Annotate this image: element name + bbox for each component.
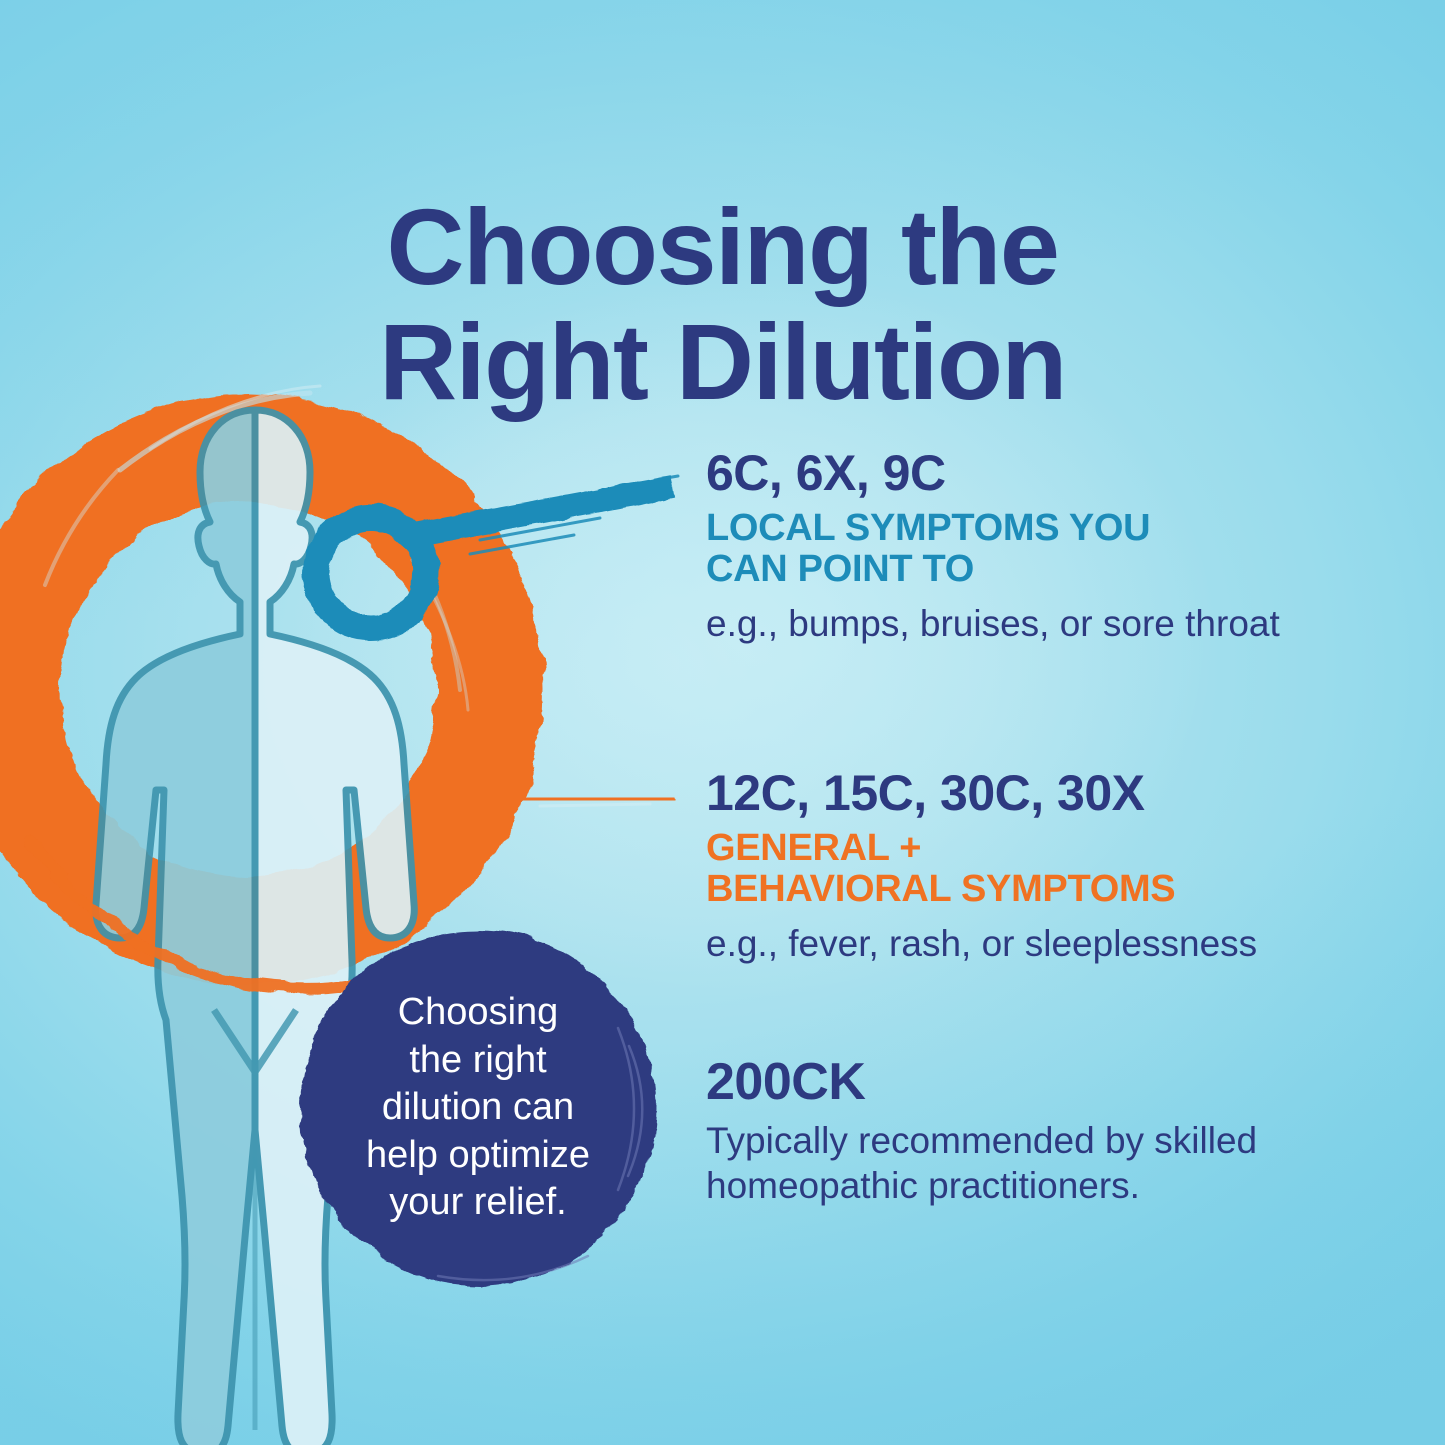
dilution-description-text: Typically recommended by skilled homeopa…	[706, 1118, 1396, 1208]
badge-text: Choosing the right dilution can help opt…	[288, 918, 668, 1298]
dilution-example-text: e.g., fever, rash, or sleeplessness	[706, 922, 1396, 966]
orange-pointer-stroke	[512, 798, 676, 800]
dilution-dose-label: 200CK	[706, 1056, 1396, 1108]
page-title-line-1: Choosing the	[0, 190, 1445, 304]
dilution-kind-label: GENERAL + BEHAVIORAL SYMPTOMS	[706, 828, 1396, 910]
dilution-block-general: 12C, 15C, 30C, 30X GENERAL + BEHAVIORAL …	[706, 768, 1396, 966]
dilution-block-local: 6C, 6X, 9C LOCAL SYMPTOMS YOU CAN POINT …	[706, 448, 1396, 646]
infographic-poster: Choosing the right dilution can help opt…	[0, 0, 1445, 1445]
dilution-dose-label: 12C, 15C, 30C, 30X	[706, 768, 1396, 818]
orange-pointer-streaks	[540, 804, 650, 806]
page-title: Choosing the Right Dilution	[0, 190, 1445, 419]
dilution-kind-label: LOCAL SYMPTOMS YOU CAN POINT TO	[706, 508, 1396, 590]
badge: Choosing the right dilution can help opt…	[288, 918, 668, 1298]
page-title-line-2: Right Dilution	[0, 305, 1445, 419]
dilution-dose-label: 6C, 6X, 9C	[706, 448, 1396, 498]
dilution-block-200ck: 200CK Typically recommended by skilled h…	[706, 1056, 1396, 1208]
dilution-example-text: e.g., bumps, bruises, or sore throat	[706, 602, 1396, 646]
